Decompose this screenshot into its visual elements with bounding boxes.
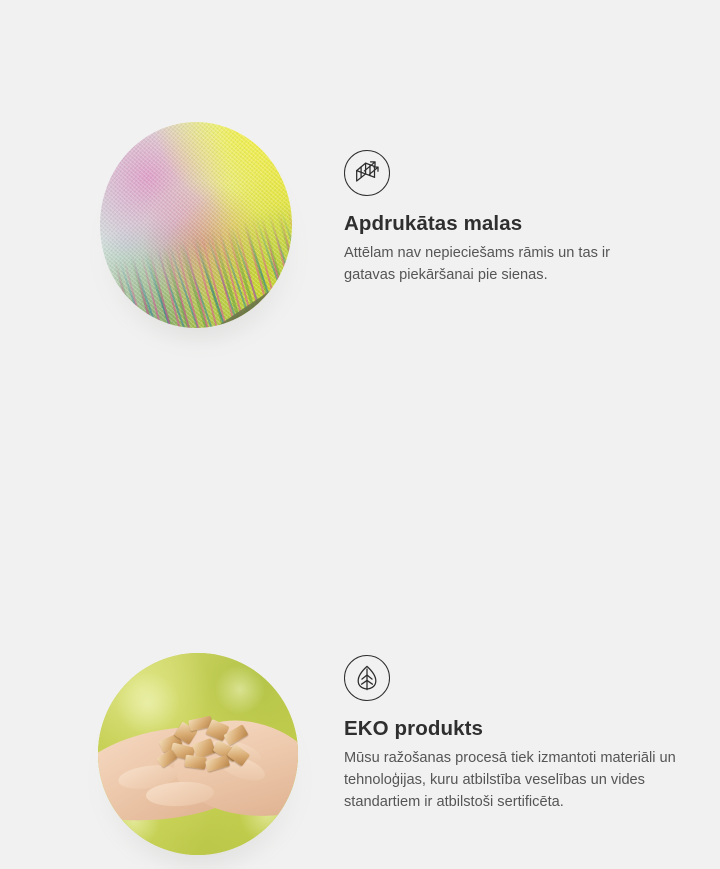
feature-title-eco-product: EKO produkts <box>344 717 684 742</box>
wrapped-canvas-edge-icon <box>344 150 390 196</box>
bokeh-highlight <box>214 665 266 713</box>
eco-meadow-background <box>98 653 298 855</box>
wood-chip <box>184 755 206 770</box>
feature-title-printed-edges: Apdrukātas malas <box>344 212 684 237</box>
product-features-page: Apdrukātas malas Attēlam nav nepieciešam… <box>0 0 720 720</box>
feature-description-eco-product: Mūsu ražošanas procesā tiek izmantoti ma… <box>344 747 684 814</box>
eco-product-text-column: EKO produkts Mūsu ražošanas procesā tiek… <box>344 655 684 813</box>
feature-eco-product: EKO produkts Mūsu ražošanas procesā tiek… <box>0 265 720 665</box>
wood-chips-pile <box>154 714 258 783</box>
eco-hands-photo <box>98 653 298 855</box>
leaf-icon <box>344 655 390 701</box>
wrapped-canvas-edge-glyph <box>352 158 382 188</box>
leaf-glyph <box>352 663 382 693</box>
wood-chip <box>205 755 230 772</box>
